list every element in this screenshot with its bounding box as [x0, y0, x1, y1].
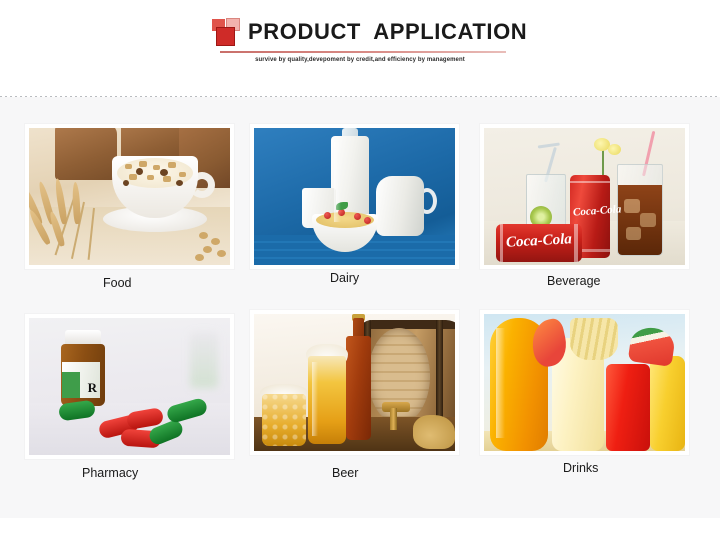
pasta-piece [195, 254, 204, 261]
rx-symbol: R [88, 380, 97, 396]
barrel-tap-stem [390, 408, 397, 430]
cereal-flake [147, 175, 154, 180]
milk-jug [376, 176, 424, 236]
page-title-primary: PRODUCT [248, 19, 361, 44]
cereal-flake [163, 176, 171, 182]
berry [354, 213, 361, 220]
thumbnail-frame-drinks [480, 310, 689, 455]
pineapple-garnish [570, 318, 618, 360]
ice-cube [626, 227, 641, 240]
gallery-item-label: Beverage [547, 274, 601, 288]
pasta-piece [211, 238, 220, 245]
ice-cube [640, 213, 656, 227]
gallery-item-label: Beer [332, 466, 358, 480]
ice-cube [624, 199, 640, 213]
beer-glass-tall [308, 356, 346, 444]
berry [324, 212, 331, 219]
berry [338, 209, 345, 216]
raisin [160, 169, 168, 176]
red-squares-logo-icon [212, 18, 242, 46]
product-gallery-grid: Food [25, 124, 695, 494]
pasta-piece [217, 250, 226, 257]
coca-cola-can-lying: Coca-Cola [496, 224, 582, 262]
wheat-bundle [413, 415, 455, 449]
thumbnail-frame-beverage: Coca-Cola Coca-Cola [480, 124, 689, 269]
thumbnail-image-dairy [254, 128, 455, 265]
coca-cola-wordmark: Coca-Cola [573, 203, 622, 218]
label-green-block [62, 372, 80, 398]
cereal-flake [139, 161, 147, 167]
title-row: PRODUCT APPLICATION [212, 16, 508, 48]
page-title: PRODUCT APPLICATION [248, 21, 527, 43]
gallery-item-label: Food [103, 276, 132, 290]
title-underline-rule [220, 51, 506, 53]
prescription-label: R [62, 362, 100, 398]
coca-cola-wordmark: Coca-Cola [506, 231, 573, 251]
logo-square-large [216, 27, 235, 46]
thumbnail-image-pharmacy: R [29, 318, 230, 455]
thumbnail-image-food [29, 128, 230, 265]
berry [364, 217, 371, 224]
gallery-item-label: Pharmacy [82, 466, 138, 480]
gallery-item-label: Dairy [330, 271, 359, 285]
thumbnail-image-beverage: Coca-Cola Coca-Cola [484, 128, 685, 265]
cereal-flake [179, 172, 186, 177]
watermelon-garnish [628, 325, 677, 367]
thumbnail-frame-dairy [250, 124, 459, 269]
thumbnail-image-drinks [484, 314, 685, 451]
background-blur-object [190, 332, 218, 388]
gallery-item-label: Drinks [563, 461, 598, 475]
thumbnail-image-beer [254, 314, 455, 451]
pasta-piece [203, 246, 212, 253]
cereal-flake [168, 162, 176, 168]
header-subtitle: survive by quality,devepoment by credit,… [212, 57, 508, 63]
slide-root: PRODUCT APPLICATION survive by quality,d… [0, 0, 720, 542]
thumbnail-frame-beer [250, 310, 459, 455]
cereal-flake [125, 164, 132, 169]
burlap-sack [55, 128, 117, 180]
wheat-head [72, 182, 81, 224]
red-juice-glass [606, 364, 650, 451]
slide-header: PRODUCT APPLICATION survive by quality,d… [0, 0, 720, 96]
page-title-secondary: APPLICATION [373, 19, 527, 44]
can-band [574, 224, 578, 262]
cereal-flake [153, 165, 160, 170]
iced-cola-glass [617, 164, 663, 256]
thumbnail-frame-pharmacy: R [25, 314, 234, 459]
raisin [123, 180, 129, 186]
pasta-piece [199, 232, 208, 239]
content-panel: Food [0, 97, 720, 518]
beer-bottle [346, 336, 371, 440]
yellow-juice-glass [650, 356, 685, 451]
beer-mug [262, 394, 306, 446]
title-block: PRODUCT APPLICATION survive by quality,d… [212, 16, 508, 63]
can-band [500, 224, 503, 262]
raisin [136, 168, 143, 175]
cereal-flake [129, 174, 137, 180]
can-band [570, 181, 610, 183]
thumbnail-frame-food [25, 124, 234, 269]
flower [608, 144, 621, 155]
raisin [176, 180, 183, 186]
